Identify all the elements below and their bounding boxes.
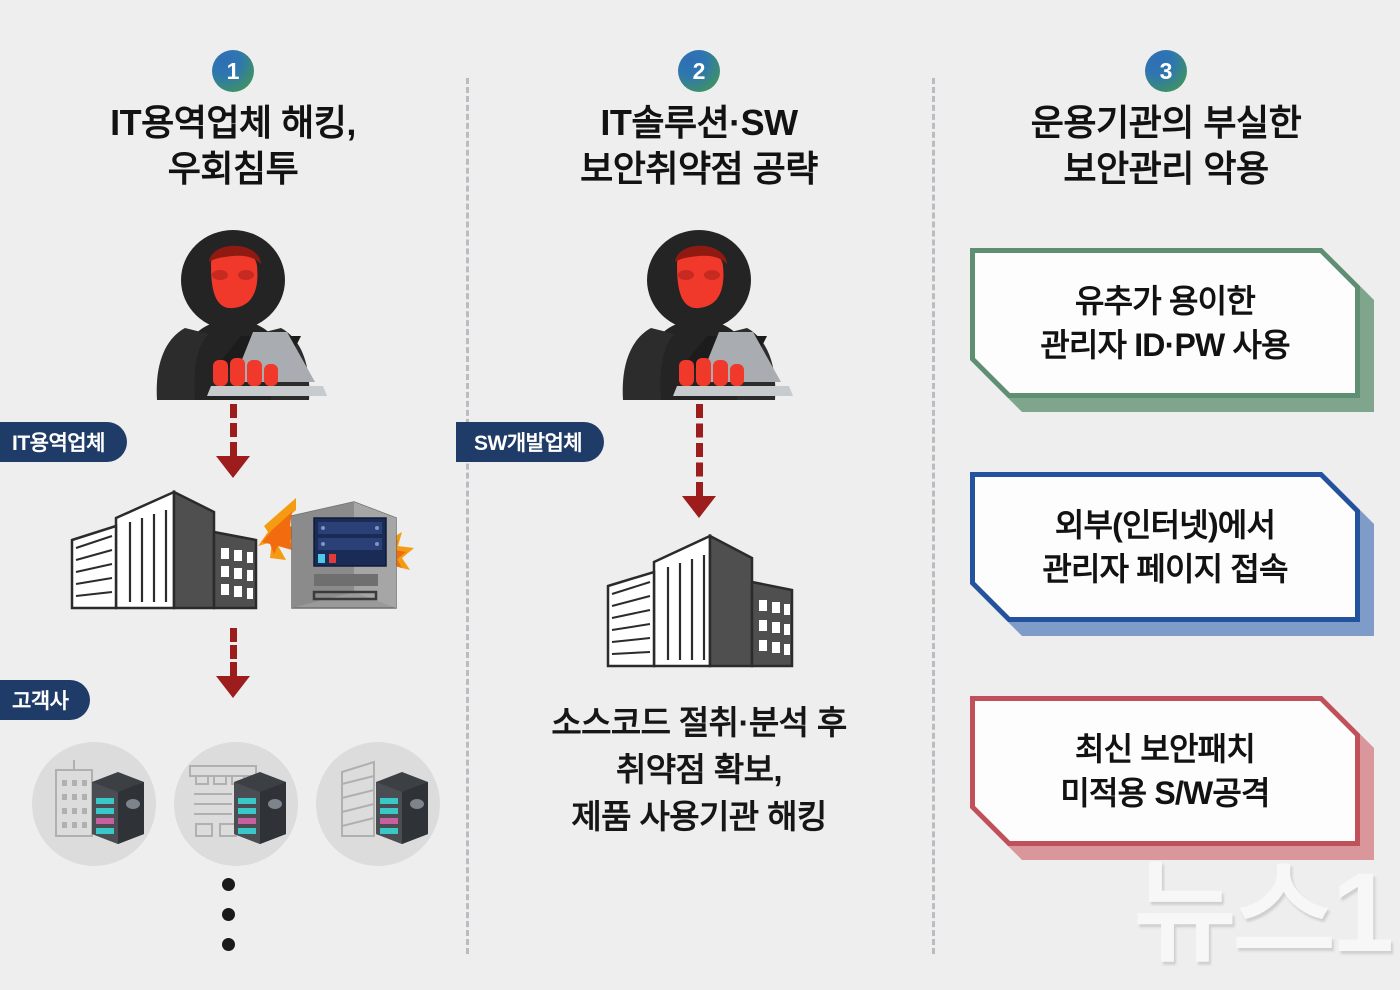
label-client-companies-text: 고객사	[12, 685, 68, 715]
server-tower-explosion-icon	[256, 468, 426, 623]
vertical-ellipsis-icon	[222, 878, 235, 968]
label-sw-developer: SW개발업체	[456, 422, 604, 462]
hooded-hacker-with-laptop-icon	[581, 228, 817, 400]
label-client-companies: 고객사	[0, 680, 90, 720]
risk-box-2-face: 외부(인터넷)에서 관리자 페이지 접속	[970, 472, 1360, 622]
client-company-circle-3-icon	[316, 742, 440, 866]
step-badge-2: 2	[678, 50, 720, 92]
office-buildings-icon	[64, 470, 264, 615]
label-it-service-vendor-text: IT용역업체	[12, 427, 105, 457]
arrow-down-3	[682, 404, 716, 518]
office-buildings-icon	[598, 522, 798, 677]
column-2-heading: IT솔루션·SW 보안취약점 공략	[466, 100, 932, 192]
risk-box-external-admin-access: 외부(인터넷)에서 관리자 페이지 접속	[970, 472, 1360, 622]
step-badge-3: 3	[1145, 50, 1187, 92]
client-company-circle-1-icon	[32, 742, 156, 866]
label-sw-developer-text: SW개발업체	[474, 427, 582, 457]
arrow-down-1	[216, 404, 250, 478]
step-badge-1: 1	[212, 50, 254, 92]
arrow-down-2	[216, 628, 250, 698]
client-companies-group	[24, 742, 444, 866]
label-it-service-vendor: IT용역업체	[0, 422, 127, 462]
client-company-circle-2-icon	[174, 742, 298, 866]
column-3-heading: 운용기관의 부실한 보안관리 악용	[932, 100, 1400, 192]
column-2-caption: 소스코드 절취·분석 후 취약점 확보, 제품 사용기관 해킹	[466, 700, 932, 841]
risk-box-weak-credentials: 유추가 용이한 관리자 ID·PW 사용	[970, 248, 1360, 398]
infographic-root: 1 IT용역업체 해킹, 우회침투 I	[0, 0, 1400, 990]
column-2: 2 IT솔루션·SW 보안취약점 공략 SW개발	[466, 0, 932, 990]
risk-box-3-text: 최신 보안패치 미적용 S/W공격	[1060, 727, 1269, 815]
column-1-heading: IT용역업체 해킹, 우회침투	[0, 100, 466, 192]
risk-box-1-text: 유추가 용이한 관리자 ID·PW 사용	[1040, 279, 1290, 367]
column-1: 1 IT용역업체 해킹, 우회침투 I	[0, 0, 466, 990]
risk-box-2-text: 외부(인터넷)에서 관리자 페이지 접속	[1042, 503, 1287, 591]
risk-box-1-face: 유추가 용이한 관리자 ID·PW 사용	[970, 248, 1360, 398]
hooded-hacker-with-laptop-icon	[115, 228, 351, 400]
news1-watermark: 뉴스1	[1134, 822, 1390, 984]
